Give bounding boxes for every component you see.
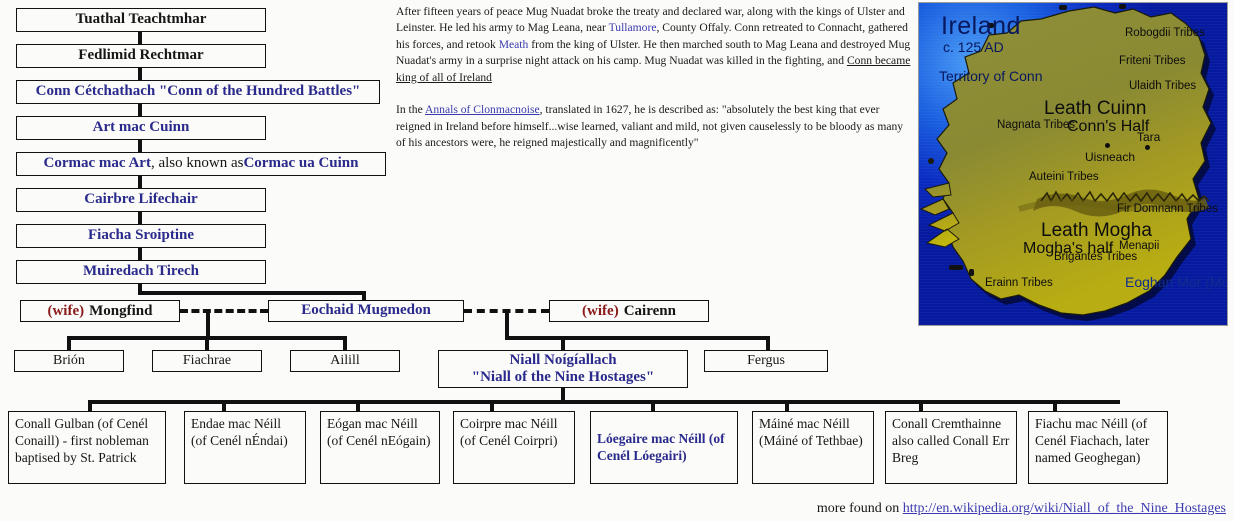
husband-name: Eochaid Mugmedon — [301, 302, 431, 319]
grandchild-label: Conall Gulban (of Cenél Conaill) - first… — [15, 416, 149, 465]
lineage-label: Fiacha Sroiptine — [88, 227, 194, 244]
grandchild-box-conall-gulban[interactable]: Conall Gulban (of Cenél Conaill) - first… — [8, 411, 166, 484]
wife-box-cairenn[interactable]: (wife)Cairenn — [549, 300, 709, 322]
marriage-link-mongfind — [180, 309, 268, 313]
grandchild-label: Coirpre mac Néill (of Cenél Coirpri) — [460, 416, 557, 448]
grandchild-label: Eógan mac Néill (of Cenél nEógain) — [327, 416, 430, 448]
grandchild-label: Endae mac Néill (of Cenél nÉndai) — [191, 416, 288, 448]
lineage-label: Tuathal Teachtmhar — [76, 11, 207, 28]
grandchild-box-endae-mac-neill[interactable]: Endae mac Néill (of Cenél nÉndai) — [184, 411, 306, 484]
map-label-uisneach: Uisneach — [1085, 151, 1135, 164]
genealogy-chart: Tuathal Teachtmhar Fedlimid Rechtmar Con… — [0, 0, 1234, 521]
child-box-brion[interactable]: Brión — [14, 350, 124, 372]
map-label-leath-mogha: Leath Mogha — [1041, 221, 1152, 241]
cormac-alias-name: Cormac ua Cuinn — [243, 155, 358, 172]
cormac-primary-name: Cormac mac Art — [44, 155, 151, 172]
map-label-fir-domnann-tribes: Fir Domnann Tribes — [1117, 203, 1218, 215]
map-label-tara: Tara — [1137, 131, 1160, 144]
child-label: Ailill — [330, 353, 360, 369]
grandchild-label: Lóegaire mac Néill (of Cenél Lóegairi) — [597, 431, 731, 465]
niall-name-line1: Niall Noígíallach — [509, 352, 616, 369]
lineage-box-fedlimid-rechtmar[interactable]: Fedlimid Rechtmar — [16, 44, 266, 68]
map-dot-tara — [1145, 145, 1150, 150]
map-territory-label: Territory of Conn — [939, 69, 1042, 84]
grandchild-box-fiachu-mac-neill[interactable]: Fiachu mac Néill (of Cenél Fiachach, lat… — [1028, 411, 1168, 484]
map-label-eoghan-mor: Eoghan Mor (Mogha) — [1125, 275, 1228, 290]
connector-niall-drop — [561, 336, 565, 350]
connector-grandchildren-bus — [88, 400, 1120, 404]
map-label-robogdii-tribes: Robogdii Tribes — [1125, 27, 1205, 39]
cormac-alias-connector: , also known as — [151, 155, 244, 172]
narrative-p2-a: In the — [396, 103, 425, 116]
grandchild-box-eogan-mac-neill[interactable]: Eógan mac Néill (of Cenél nEógain) — [320, 411, 440, 484]
lineage-label: Conn Cétchathach "Conn of the Hundred Ba… — [36, 83, 361, 100]
wife-tag: (wife) — [47, 303, 84, 320]
lineage-label: Cairbre Lifechair — [84, 191, 197, 208]
link-meath[interactable]: Meath — [499, 38, 529, 51]
child-label: Brión — [53, 353, 85, 369]
footer: more found on http://en.wikipedia.org/wi… — [0, 501, 1226, 517]
map-label-leath-cuinn: Leath Cuinn — [1044, 99, 1146, 119]
link-annals-of-clonmacnoise[interactable]: Annals of Clonmacnoise — [425, 103, 540, 116]
lineage-box-conn-cetchathach[interactable]: Conn Cétchathach "Conn of the Hundred Ba… — [16, 80, 380, 104]
connector-cairenn-bus — [505, 336, 770, 340]
grandchild-box-conall-cremthainne[interactable]: Conall Cremthainne also called Conall Er… — [885, 411, 1017, 484]
connector-fiachrae-drop — [205, 336, 209, 350]
lineage-box-cormac-mac-art[interactable]: Cormac mac Art, also known as Cormac ua … — [16, 152, 386, 176]
connector-muiredach-across — [138, 291, 366, 295]
connector-ailill-drop — [343, 336, 347, 350]
connector-brion-drop — [67, 336, 71, 350]
wife-box-mongfind[interactable]: (wife)Mongfind — [20, 300, 180, 322]
map-title: Ireland — [941, 13, 1042, 39]
niall-name-line2: "Niall of the Nine Hostages" — [472, 369, 654, 386]
map-label-auteini-tribes: Auteini Tribes — [1029, 171, 1099, 183]
lineage-box-art-mac-cuinn[interactable]: Art mac Cuinn — [16, 116, 266, 140]
footer-url-link[interactable]: http://en.wikipedia.org/wiki/Niall_of_th… — [903, 501, 1226, 516]
map-label-erainn-tribes: Erainn Tribes — [985, 277, 1053, 289]
grandchild-label: Máiné mac Néill (Máiné of Tethbae) — [759, 416, 863, 448]
grandchild-box-loegaire-mac-neill[interactable]: Lóegaire mac Néill (of Cenél Lóegairi) — [590, 411, 738, 484]
lineage-label: Art mac Cuinn — [93, 119, 190, 136]
map-label-nagnata-tribes: Nagnata Tribes — [997, 119, 1075, 131]
grandchild-label: Fiachu mac Néill (of Cenél Fiachach, lat… — [1035, 416, 1149, 465]
link-tullamore[interactable]: Tullamore — [609, 21, 657, 34]
lineage-label: Muiredach Tirech — [83, 263, 199, 280]
child-label: Fergus — [747, 353, 785, 369]
child-box-niall-noigiallach[interactable]: Niall Noígíallach "Niall of the Nine Hos… — [438, 350, 688, 388]
lineage-box-muiredach-tirech[interactable]: Muiredach Tirech — [16, 260, 266, 284]
narrative-paragraph-1: After fifteen years of peace Mug Nuadat … — [396, 4, 911, 86]
map-label-ulaidh-tribes: Ulaidh Tribes — [1129, 80, 1196, 92]
map-label-friteni-tribes: Friteni Tribes — [1119, 55, 1185, 67]
child-box-ailill[interactable]: Ailill — [290, 350, 400, 372]
wife-tag: (wife) — [582, 303, 619, 320]
wife-name: Cairenn — [624, 303, 676, 320]
wife-name: Mongfind — [89, 303, 152, 320]
connector-fergus-drop — [766, 336, 770, 350]
grandchild-label: Conall Cremthainne also called Conall Er… — [892, 416, 1009, 465]
grandchild-box-maine-mac-neill[interactable]: Máiné mac Néill (Máiné of Tethbae) — [752, 411, 874, 484]
grandchild-box-coirpre-mac-neill[interactable]: Coirpre mac Néill (of Cenél Coirpri) — [453, 411, 575, 484]
lineage-label: Fedlimid Rechtmar — [78, 47, 203, 64]
map-title-block: Ireland c. 125 AD Territory of Conn — [941, 13, 1042, 84]
narrative-paragraph-2: In the Annals of Clonmacnoise, translate… — [396, 102, 911, 151]
map-label-brigantes-tribes: Brigantes Tribes — [1054, 251, 1137, 263]
child-box-fergus[interactable]: Fergus — [704, 350, 828, 372]
husband-box-eochaid-mugmedon[interactable]: Eochaid Mugmedon — [268, 300, 464, 322]
child-box-fiachrae[interactable]: Fiachrae — [152, 350, 262, 372]
ireland-map: Ireland c. 125 AD Territory of Conn Leat… — [918, 2, 1228, 326]
lineage-box-cairbre-lifechair[interactable]: Cairbre Lifechair — [16, 188, 266, 212]
lineage-box-fiacha-sroiptine[interactable]: Fiacha Sroiptine — [16, 224, 266, 248]
lineage-box-tuathal-teachtmhar[interactable]: Tuathal Teachtmhar — [16, 8, 266, 32]
footer-prefix: more found on — [817, 501, 903, 516]
child-label: Fiachrae — [183, 353, 231, 369]
map-subtitle: c. 125 AD — [943, 40, 1042, 55]
narrative-panel: After fifteen years of peace Mug Nuadat … — [396, 4, 911, 152]
map-dot-uisneach — [1105, 143, 1110, 148]
